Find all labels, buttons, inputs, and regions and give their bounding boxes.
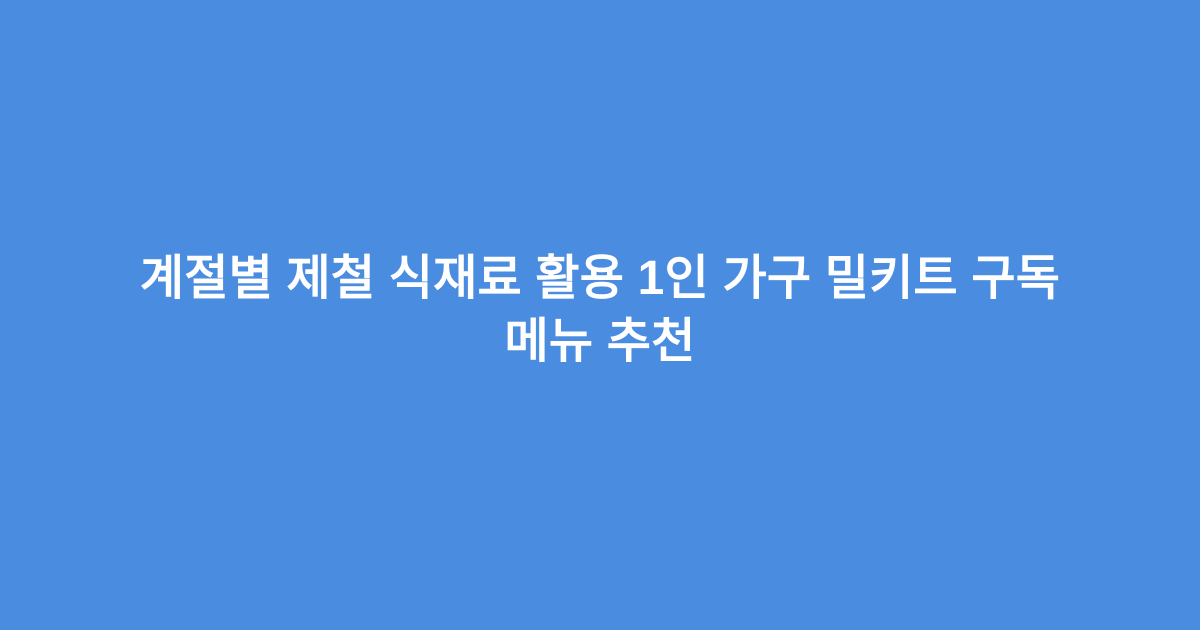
og-image-card: 계절별 제철 식재료 활용 1인 가구 밀키트 구독 메뉴 추천 bbox=[0, 0, 1200, 630]
page-title: 계절별 제철 식재료 활용 1인 가구 밀키트 구독 메뉴 추천 bbox=[110, 247, 1090, 373]
title-block: 계절별 제철 식재료 활용 1인 가구 밀키트 구독 메뉴 추천 bbox=[100, 247, 1100, 373]
